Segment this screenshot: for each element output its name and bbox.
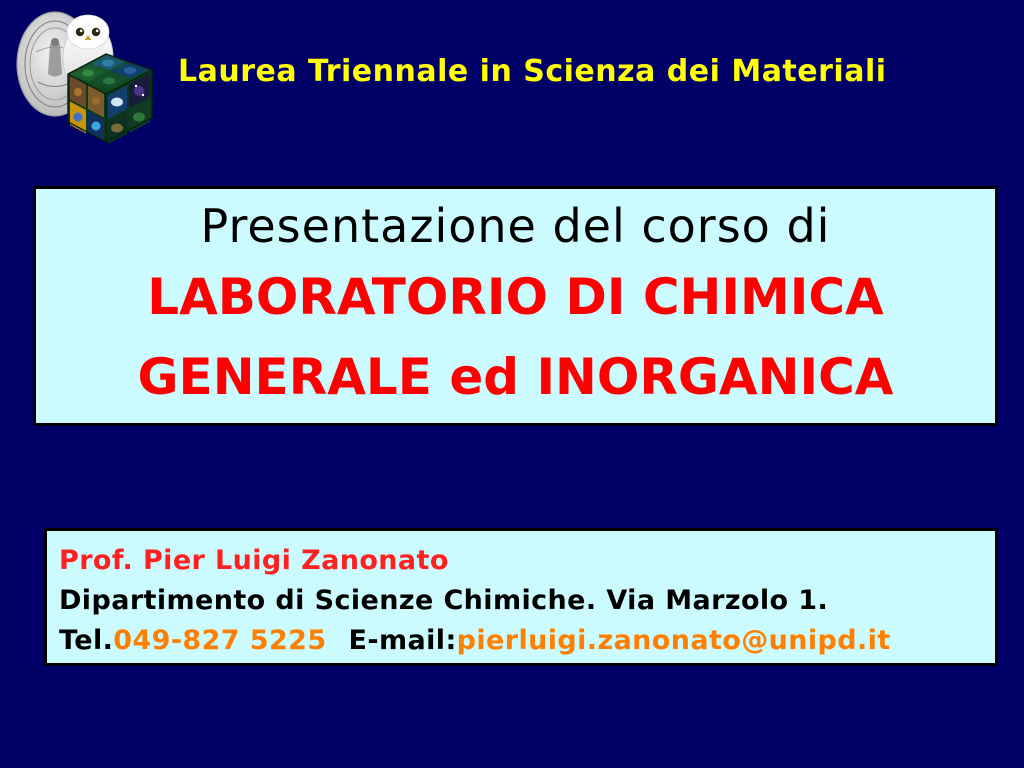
universita-di-padova-logo [6,2,166,152]
phone-and-email-line: Tel.049-827 5225E-mail:pierluigi.zanonat… [59,621,995,661]
presentation-slide: Laurea Triennale in Scienza dei Material… [0,0,1024,768]
science-cube-icon [68,54,152,144]
degree-program-heading: Laurea Triennale in Scienza dei Material… [178,57,998,87]
telephone-number[interactable]: 049-827 5225 [113,625,326,656]
email-address[interactable]: pierluigi.zanonato@unipd.it [457,625,891,656]
instructor-contact-panel: Prof. Pier Luigi Zanonato Dipartimento d… [44,528,998,666]
course-title-panel: Presentazione del corso di LABORATORIO D… [33,186,998,426]
course-name-line-2: GENERALE ed INORGANICA [36,337,995,417]
telephone-label: Tel. [59,625,113,656]
course-name-line-1: LABORATORIO DI CHIMICA [36,257,995,337]
department-address: Dipartimento di Scienze Chimiche. Via Ma… [59,581,995,621]
presentation-intro-text: Presentazione del corso di [36,195,995,257]
email-label: E-mail: [349,625,457,656]
instructor-name: Prof. Pier Luigi Zanonato [59,541,995,581]
